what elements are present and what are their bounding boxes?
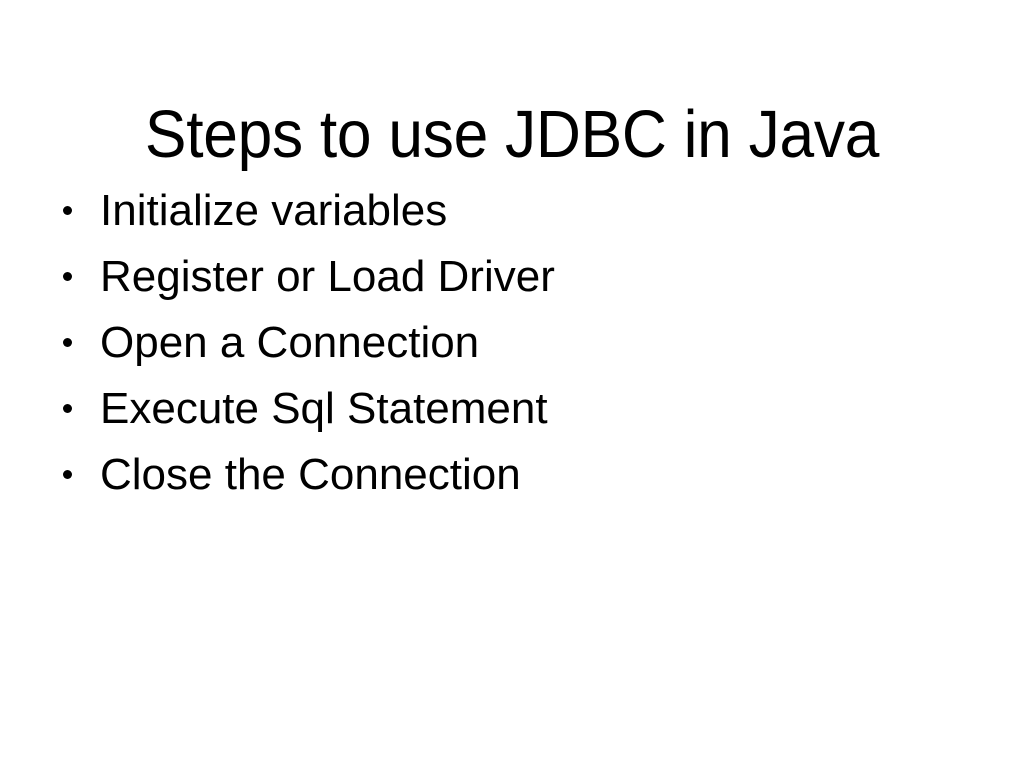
bullet-dot-icon [63, 470, 72, 479]
presentation-slide: Steps to use JDBC in Java Initialize var… [0, 0, 1024, 768]
list-item-label: Register or Load Driver [100, 248, 555, 306]
bullet-dot-icon [63, 404, 72, 413]
list-item-label: Close the Connection [100, 446, 521, 504]
list-item: Execute Sql Statement [60, 380, 960, 446]
list-item: Register or Load Driver [60, 248, 960, 314]
list-item-label: Open a Connection [100, 314, 479, 372]
bullet-dot-icon [63, 338, 72, 347]
bullet-dot-icon [63, 206, 72, 215]
list-item-label: Execute Sql Statement [100, 380, 548, 438]
list-item: Close the Connection [60, 446, 960, 512]
list-item: Initialize variables [60, 182, 960, 248]
bullet-list: Initialize variables Register or Load Dr… [60, 182, 960, 512]
bullet-dot-icon [63, 272, 72, 281]
list-item-label: Initialize variables [100, 182, 447, 240]
list-item: Open a Connection [60, 314, 960, 380]
slide-title: Steps to use JDBC in Java [36, 101, 988, 168]
